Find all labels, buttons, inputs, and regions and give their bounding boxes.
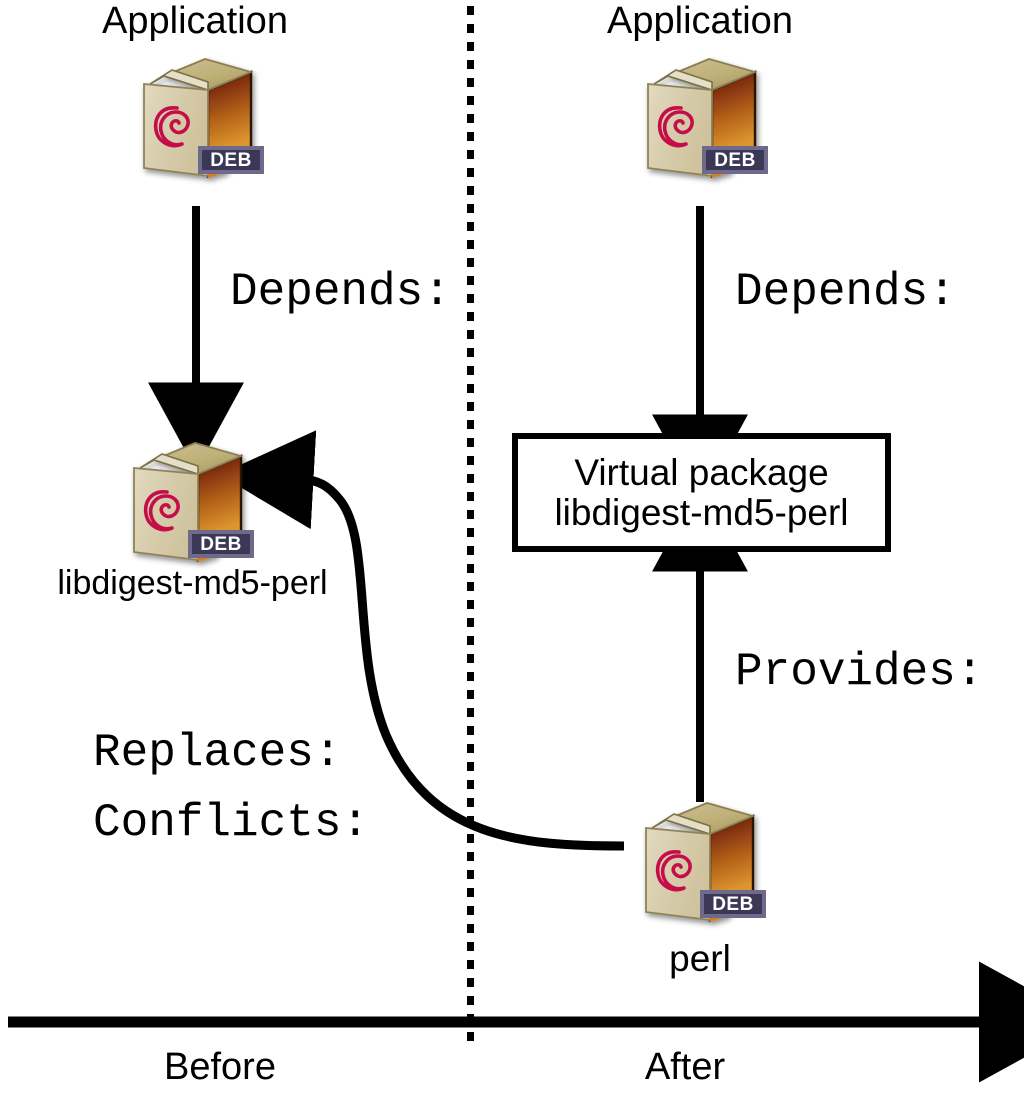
virtual-package-line2: libdigest-md5-perl bbox=[554, 493, 848, 533]
diagram-canvas: Application bbox=[0, 0, 1024, 1094]
deb-package-graphic: DEB bbox=[626, 54, 776, 190]
divider-dot bbox=[467, 258, 474, 267]
deb-package-graphic: DEB bbox=[112, 438, 262, 574]
divider-dot bbox=[467, 600, 474, 609]
divider-dot bbox=[467, 870, 474, 879]
conflicts-label: Conflicts: bbox=[93, 797, 369, 849]
divider-dot bbox=[467, 528, 474, 537]
divider-dot bbox=[467, 78, 474, 87]
svg-text:DEB: DEB bbox=[210, 150, 252, 171]
divider-dot bbox=[467, 1014, 474, 1023]
deb-package-graphic: DEB bbox=[122, 54, 272, 190]
divider-dot bbox=[467, 204, 474, 213]
divider-dot bbox=[467, 330, 474, 339]
right-application-title: Application bbox=[510, 2, 890, 42]
divider-dot bbox=[467, 744, 474, 753]
deb-package-icon-left-app: DEB bbox=[122, 54, 272, 190]
virtual-package-box: Virtual package libdigest-md5-perl bbox=[512, 433, 891, 552]
divider-dot bbox=[467, 132, 474, 141]
timeline-before-label: Before bbox=[120, 1048, 320, 1088]
svg-text:DEB: DEB bbox=[200, 534, 242, 555]
divider-dot bbox=[467, 942, 474, 951]
divider-dot bbox=[467, 438, 474, 447]
timeline-after-label: After bbox=[585, 1048, 785, 1088]
divider-dot bbox=[467, 42, 474, 51]
deb-package-icon-perl: DEB bbox=[624, 798, 774, 934]
divider-dot bbox=[467, 654, 474, 663]
divider-dot bbox=[467, 60, 474, 69]
svg-text:DEB: DEB bbox=[714, 150, 756, 171]
divider-dot bbox=[467, 546, 474, 555]
divider-dot bbox=[467, 420, 474, 429]
divider-dot bbox=[467, 312, 474, 321]
divider-dot bbox=[467, 402, 474, 411]
deb-package-icon-libdigest-md5-perl: DEB bbox=[112, 438, 262, 574]
divider-dot bbox=[467, 762, 474, 771]
svg-text:DEB: DEB bbox=[712, 894, 754, 915]
deb-badge: DEB bbox=[700, 890, 766, 918]
deb-badge: DEB bbox=[198, 146, 264, 174]
divider-dot bbox=[467, 492, 474, 501]
divider-dot bbox=[467, 816, 474, 825]
divider-dot bbox=[467, 150, 474, 159]
left-depends-label: Depends: bbox=[230, 266, 451, 318]
divider-dot bbox=[467, 582, 474, 591]
divider-dot bbox=[467, 996, 474, 1005]
divider-dot bbox=[467, 456, 474, 465]
divider-dot bbox=[467, 780, 474, 789]
divider-dot bbox=[467, 636, 474, 645]
divider-dot bbox=[467, 186, 474, 195]
deb-badge: DEB bbox=[702, 146, 768, 174]
divider-dot bbox=[467, 168, 474, 177]
divider-dot bbox=[467, 960, 474, 969]
virtual-package-line1: Virtual package bbox=[574, 453, 828, 493]
divider-dot bbox=[467, 222, 474, 231]
provides-label: Provides: bbox=[735, 646, 983, 698]
divider-dot bbox=[467, 24, 474, 33]
deb-package-icon-right-app: DEB bbox=[626, 54, 776, 190]
divider-dot bbox=[467, 384, 474, 393]
divider-dot bbox=[467, 978, 474, 987]
divider-dot bbox=[467, 96, 474, 105]
divider-dot bbox=[467, 726, 474, 735]
deb-badge: DEB bbox=[188, 530, 254, 558]
divider-dot bbox=[467, 690, 474, 699]
perl-label: perl bbox=[600, 940, 800, 978]
divider-dot bbox=[467, 672, 474, 681]
right-depends-label: Depends: bbox=[735, 266, 956, 318]
divider-dot bbox=[467, 852, 474, 861]
divider-dot bbox=[467, 114, 474, 123]
divider-dot bbox=[467, 888, 474, 897]
divider-dot bbox=[467, 294, 474, 303]
divider-dot bbox=[467, 366, 474, 375]
dotted-divider-icon bbox=[467, 6, 474, 1036]
deb-package-graphic: DEB bbox=[624, 798, 774, 934]
divider-dot bbox=[467, 348, 474, 357]
divider-dot bbox=[467, 924, 474, 933]
divider-dot bbox=[467, 906, 474, 915]
divider-dot bbox=[467, 798, 474, 807]
divider-dot bbox=[467, 276, 474, 285]
divider-dot bbox=[467, 834, 474, 843]
divider-dot bbox=[467, 240, 474, 249]
libdigest-md5-perl-label: libdigest-md5-perl bbox=[0, 566, 385, 601]
divider-dot bbox=[467, 564, 474, 573]
left-application-title: Application bbox=[0, 2, 390, 42]
replaces-label: Replaces: bbox=[93, 727, 341, 779]
divider-dot bbox=[467, 6, 474, 15]
divider-dot bbox=[467, 708, 474, 717]
divider-dot bbox=[467, 510, 474, 519]
divider-dot bbox=[467, 1032, 474, 1041]
divider-dot bbox=[467, 618, 474, 627]
divider-dot bbox=[467, 474, 474, 483]
